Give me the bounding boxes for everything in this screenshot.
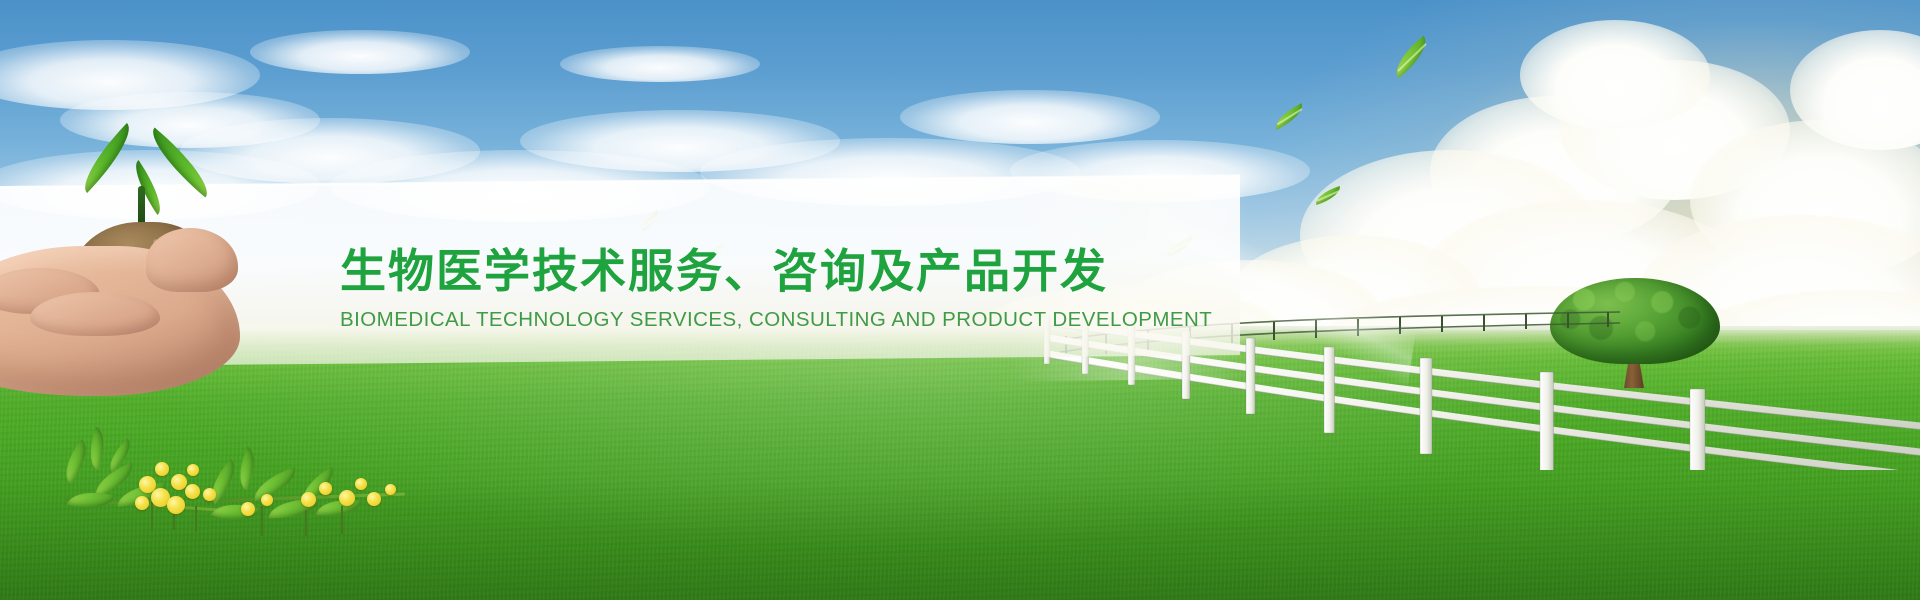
sprout-leaf-icon	[126, 160, 170, 215]
flower-stem	[151, 502, 153, 530]
yellow-flower	[355, 478, 367, 490]
flower-cluster	[55, 440, 405, 580]
flower-stem	[341, 506, 343, 534]
yellow-flower	[203, 488, 216, 501]
page-subtitle: BIOMEDICAL TECHNOLOGY SERVICES, CONSULTI…	[340, 308, 1240, 332]
yellow-flower	[339, 490, 355, 506]
plant-leaf-icon	[231, 447, 263, 490]
yellow-flower	[301, 492, 316, 507]
cloud-wisp	[250, 30, 470, 74]
yellow-flower	[385, 484, 396, 495]
yellow-flower	[155, 462, 169, 476]
yellow-flower	[241, 502, 255, 516]
flower-stem	[305, 510, 307, 536]
cloud-wisp	[900, 90, 1160, 144]
page-title: 生物医学技术服务、咨询及产品开发	[340, 246, 1240, 297]
flower-stem	[195, 506, 197, 532]
thumb	[146, 228, 238, 292]
yellow-flower	[185, 484, 200, 499]
yellow-flower	[167, 496, 185, 514]
finger	[30, 292, 160, 336]
yellow-flower	[367, 492, 381, 506]
hero-banner: 生物医学技术服务、咨询及产品开发 BIOMEDICAL TECHNOLOGY S…	[0, 0, 1920, 600]
flower-stem	[261, 506, 263, 536]
yellow-flower	[135, 496, 149, 510]
yellow-flower	[187, 464, 199, 476]
cloud-cumulus	[1520, 20, 1710, 130]
cloud-wisp	[560, 46, 760, 82]
yellow-flower	[261, 494, 273, 506]
title-group: 生物医学技术服务、咨询及产品开发 BIOMEDICAL TECHNOLOGY S…	[340, 246, 1240, 332]
hand-with-sprout	[0, 150, 290, 400]
yellow-flower	[319, 482, 332, 495]
